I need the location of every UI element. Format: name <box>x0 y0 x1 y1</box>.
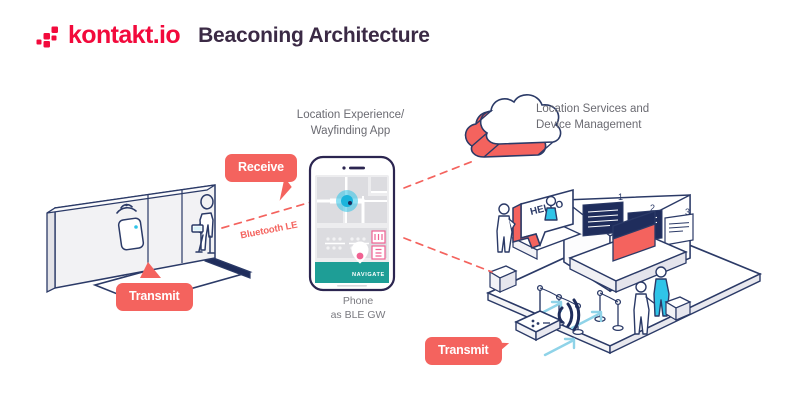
user-location-dot-icon <box>336 190 358 212</box>
transmit-left-badge-tail <box>140 262 161 278</box>
connector-phone-to-venue <box>404 238 492 272</box>
transmit-left-badge[interactable]: Transmit <box>116 283 193 311</box>
caption-phone-ble-gw: Phone as BLE GW <box>318 294 398 322</box>
person-staff-1 <box>545 197 557 221</box>
transmit-right-badge[interactable]: Transmit <box>425 337 502 365</box>
caption-location-services: Location Services and Device Management <box>536 102 736 133</box>
wall-mounted-beacon-icon <box>118 218 144 251</box>
phone-mockup: NAVIGATE <box>310 157 394 290</box>
connector-phone-to-cloud <box>404 160 476 188</box>
navigate-button-label: NAVIGATE <box>352 272 385 278</box>
svg-text:1: 1 <box>618 192 623 202</box>
svg-text:3: 3 <box>685 207 690 217</box>
venue-scene: 1 2 3 <box>488 190 760 355</box>
diagram-artwork: 1 2 3 <box>0 0 800 400</box>
receive-badge[interactable]: Receive <box>225 154 297 182</box>
caption-wayfinding-app: Location Experience/ Wayfinding App <box>278 108 423 139</box>
diagram-canvas: kontakt.io Beaconing Architecture <box>0 0 800 400</box>
